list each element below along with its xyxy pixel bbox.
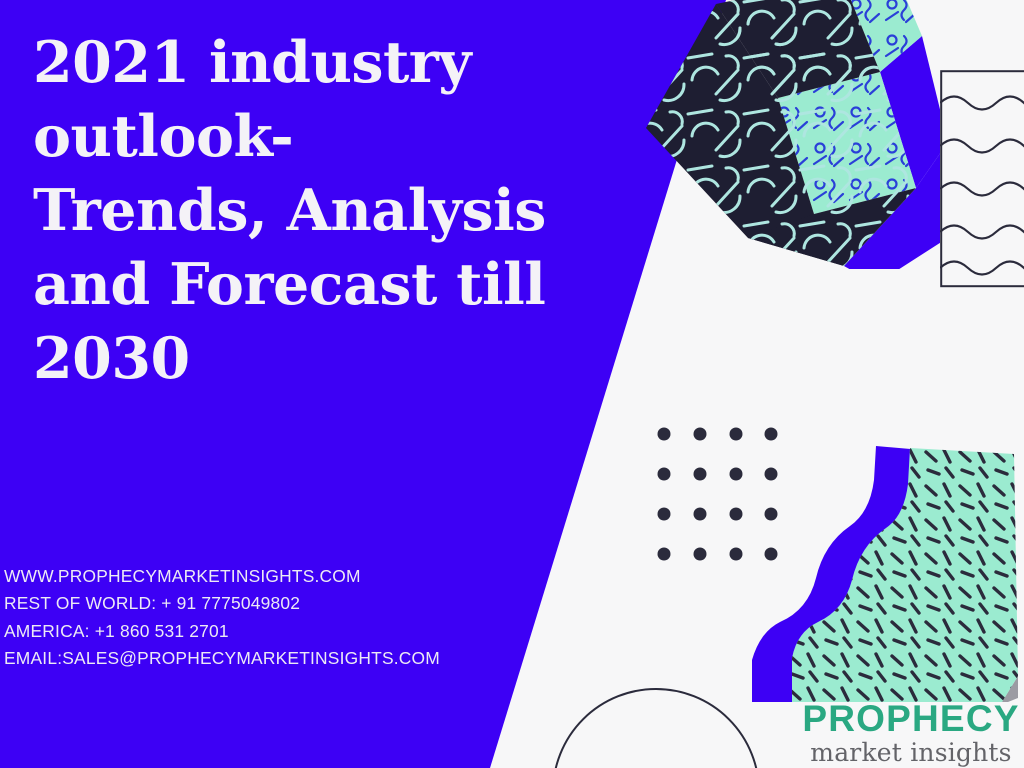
contact-block: WWW.PROPHECYMARKETINSIGHTS.COM REST OF W… <box>4 563 440 673</box>
brand-logo[interactable]: PROPHECY market insights <box>798 700 1024 768</box>
contact-rest-of-world[interactable]: REST OF WORLD: + 91 7775049802 <box>4 590 440 617</box>
contact-website[interactable]: WWW.PROPHECYMARKETINSIGHTS.COM <box>4 563 440 590</box>
page-title: 2021 industry outlook- Trends, Analysis … <box>33 26 613 396</box>
logo-wordmark: PROPHECY <box>798 700 1024 737</box>
contact-america[interactable]: AMERICA: +1 860 531 2701 <box>4 618 440 645</box>
logo-tagline: market insights <box>798 738 1024 768</box>
contact-email[interactable]: EMAIL:SALES@PROPHECYMARKETINSIGHTS.COM <box>4 645 440 672</box>
poster-canvas: 2021 industry outlook- Trends, Analysis … <box>0 0 1024 768</box>
